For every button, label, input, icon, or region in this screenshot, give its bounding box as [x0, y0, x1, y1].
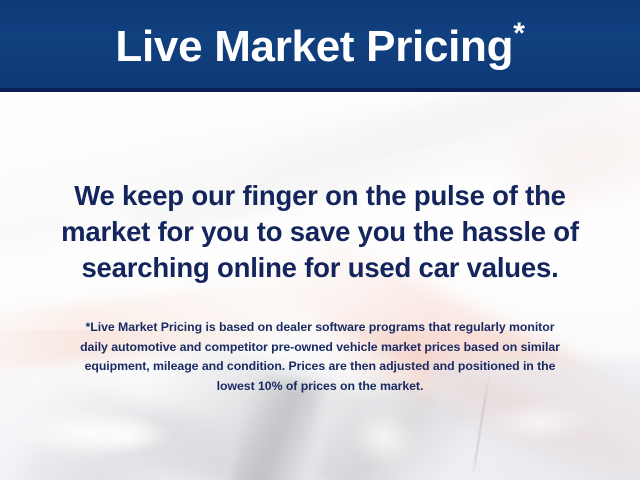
disclaimer-block: *Live Market Pricing is based on dealer … [20, 318, 620, 396]
headline-line-3: searching online for used car values. [20, 250, 620, 286]
header-banner: Live Market Pricing* [0, 0, 640, 90]
live-market-pricing-banner: Live Market Pricing* We keep our finger … [0, 0, 640, 480]
page-title-text: Live Market Pricing [115, 22, 513, 71]
disclaimer-line-3: equipment, mileage and condition. Prices… [20, 357, 620, 377]
header-bottom-rule [0, 88, 640, 92]
headline-line-1: We keep our finger on the pulse of the [20, 178, 620, 214]
disclaimer-line-1: *Live Market Pricing is based on dealer … [20, 318, 620, 338]
page-title: Live Market Pricing* [115, 19, 524, 71]
disclaimer-line-4: lowest 10% of prices on the market. [20, 377, 620, 397]
page-title-asterisk: * [513, 17, 524, 50]
headline-line-2: market for you to save you the hassle of [20, 214, 620, 250]
disclaimer-line-2: daily automotive and competitor pre-owne… [20, 338, 620, 358]
headline-block: We keep our finger on the pulse of the m… [20, 178, 620, 286]
